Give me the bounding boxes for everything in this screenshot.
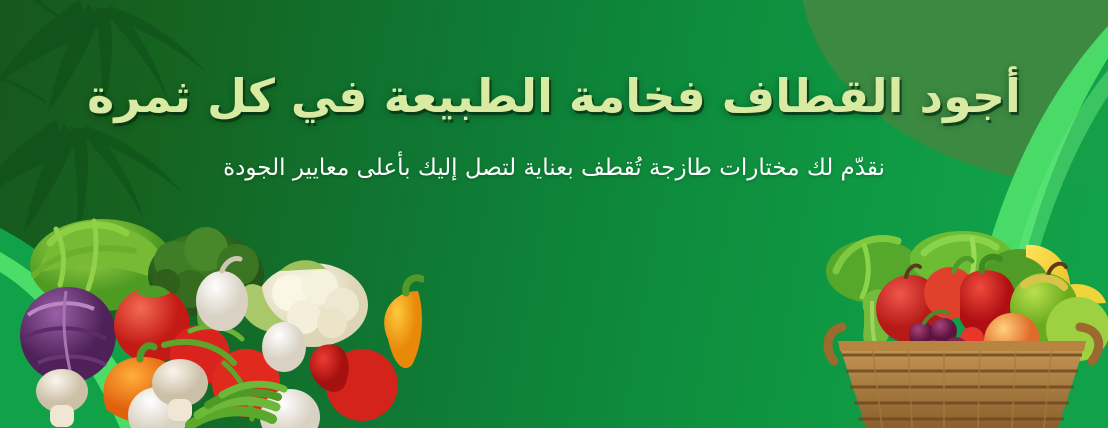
banner-subheadline: نقدّم لك مختارات طازجة تُقطف بعناية لتصل…	[0, 152, 1108, 184]
red-cabbage	[20, 287, 116, 383]
vegetables-image	[0, 213, 424, 428]
banner-copy: أجود القطاف فخامة الطبيعة في كل ثمرة نقد…	[0, 0, 1108, 184]
promo-banner: أجود القطاف فخامة الطبيعة في كل ثمرة نقد…	[0, 0, 1108, 428]
banner-headline: أجود القطاف فخامة الطبيعة في كل ثمرة	[0, 68, 1108, 126]
fruit-basket-image	[812, 223, 1108, 428]
wicker-basket	[828, 327, 1099, 428]
